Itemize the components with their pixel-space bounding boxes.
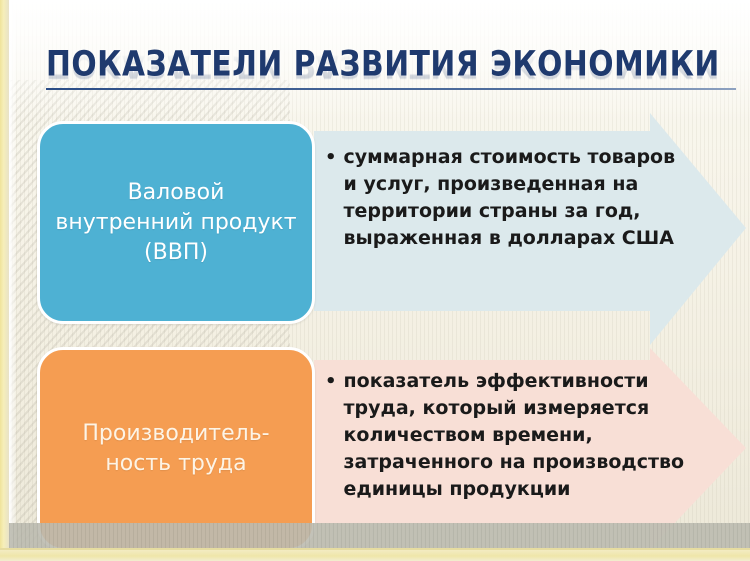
list-item: • суммарная стоимость товаров и услуг, п… bbox=[325, 144, 685, 252]
slide-canvas: ПОКАЗАТЕЛИ РАЗВИТИЯ ЭКОНОМИКИ ПОКАЗАТЕЛИ… bbox=[0, 0, 750, 561]
concept-box-labor-productivity-label-line-1: Производитель- bbox=[82, 419, 269, 449]
concept-box-gdp-label-line-2: внутренний продукт bbox=[55, 208, 296, 238]
gdp-description-line-2: и услуг, произведенная на bbox=[344, 173, 639, 195]
bullet-dot-icon: • bbox=[325, 144, 337, 171]
concept-box-labor-productivity[interactable]: Производитель- ность труда bbox=[37, 347, 315, 551]
labor-productivity-description-line-5: единицы продукции bbox=[344, 478, 571, 500]
gdp-description-line-4: выраженная в долларах США bbox=[344, 227, 674, 249]
labor-productivity-description: • показатель эффективности труда, которы… bbox=[325, 368, 695, 503]
gdp-description-line-3: территории страны за год, bbox=[344, 200, 641, 222]
bottom-gray-band bbox=[9, 523, 750, 550]
left-edge-highlight bbox=[9, 0, 16, 561]
gdp-description-text: суммарная стоимость товаров и услуг, про… bbox=[344, 144, 685, 252]
labor-productivity-description-line-3: количеством времени, bbox=[344, 424, 593, 446]
concept-box-labor-productivity-label-line-2: ность труда bbox=[82, 449, 269, 479]
gdp-description: • суммарная стоимость товаров и услуг, п… bbox=[325, 144, 685, 252]
page-title-text: ПОКАЗАТЕЛИ РАЗВИТИЯ ЭКОНОМИКИ bbox=[46, 44, 718, 84]
labor-productivity-description-line-4: затраченного на производство bbox=[344, 451, 685, 473]
labor-productivity-description-line-1: показатель эффективности bbox=[344, 370, 649, 392]
concept-box-gdp-label-line-1: Валовой bbox=[55, 178, 296, 208]
concept-box-labor-productivity-label: Производитель- ность труда bbox=[70, 419, 281, 479]
left-edge-stripe bbox=[0, 0, 9, 561]
page-title: ПОКАЗАТЕЛИ РАЗВИТИЯ ЭКОНОМИКИ ПОКАЗАТЕЛИ… bbox=[46, 44, 746, 106]
concept-box-gdp-label-line-3: (ВВП) bbox=[55, 238, 296, 268]
labor-productivity-description-line-2: труда, который измеряется bbox=[344, 397, 650, 419]
bullet-dot-icon: • bbox=[325, 368, 337, 395]
concept-box-gdp-label: Валовой внутренний продукт (ВВП) bbox=[43, 178, 308, 268]
bottom-edge-stripe bbox=[0, 550, 750, 561]
list-item: • показатель эффективности труда, которы… bbox=[325, 368, 695, 503]
title-underline bbox=[46, 88, 736, 90]
labor-productivity-description-text: показатель эффективности труда, который … bbox=[344, 368, 695, 503]
concept-box-gdp[interactable]: Валовой внутренний продукт (ВВП) bbox=[37, 121, 315, 324]
gdp-description-line-1: суммарная стоимость товаров bbox=[344, 146, 676, 168]
